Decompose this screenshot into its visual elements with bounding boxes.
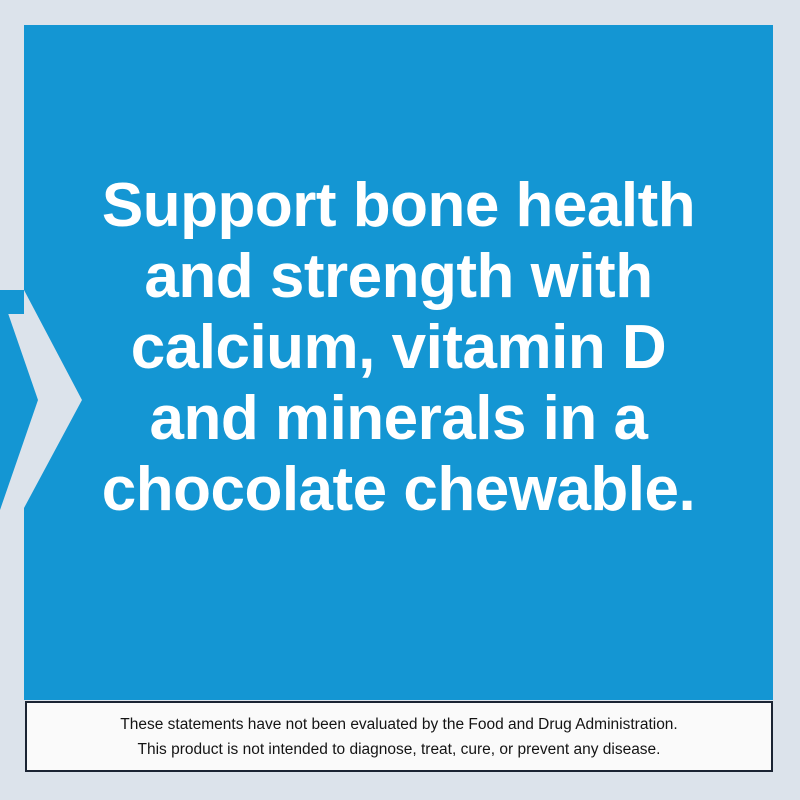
headline-line: Support bone health: [24, 170, 773, 241]
headline-line: and minerals in a: [24, 383, 773, 454]
headline-line: and strength with: [24, 241, 773, 312]
page-title: Support bone health and strength with ca…: [24, 170, 773, 525]
fda-disclaimer-box: These statements have not been evaluated…: [25, 701, 773, 772]
headline-line: chocolate chewable.: [24, 454, 773, 525]
disclaimer-line: This product is not intended to diagnose…: [137, 737, 660, 762]
headline-line: calcium, vitamin D: [24, 312, 773, 383]
poster-canvas: Support bone health and strength with ca…: [0, 0, 800, 800]
disclaimer-line: These statements have not been evaluated…: [120, 712, 678, 737]
